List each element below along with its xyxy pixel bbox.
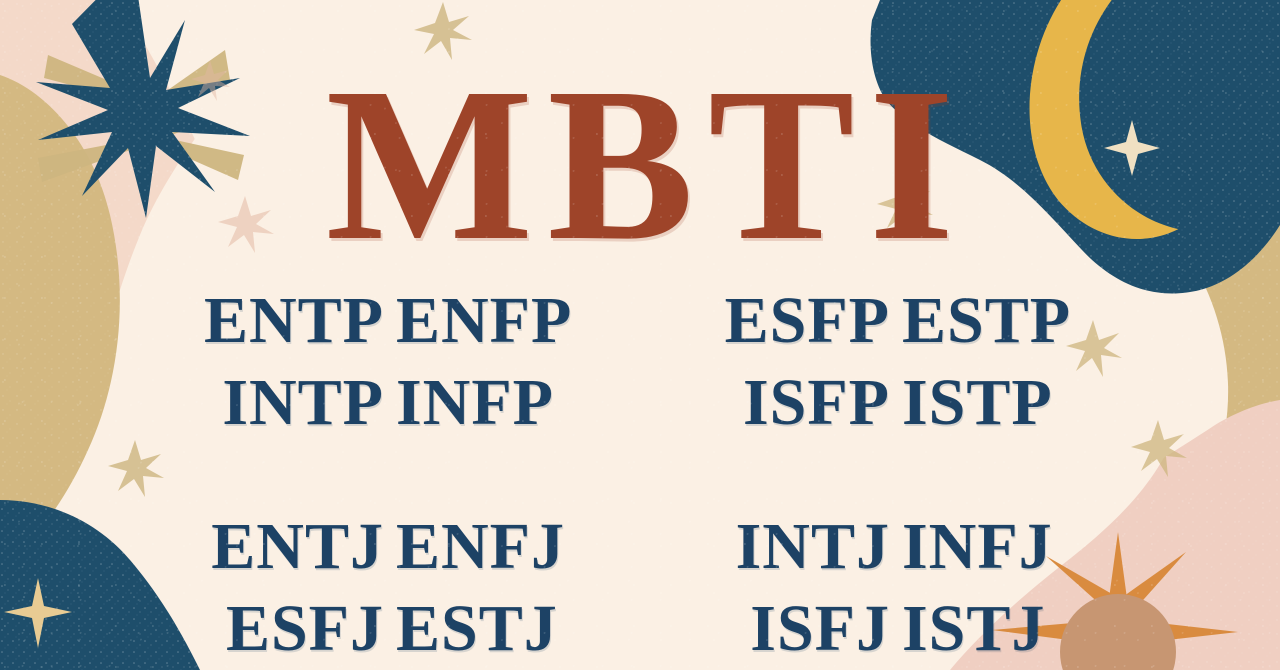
type-label: INTJ <box>662 514 896 580</box>
page-title: MBTI <box>0 54 1280 274</box>
type-label: INFP <box>390 370 618 436</box>
type-label: ESFJ <box>156 596 390 662</box>
type-label: INFJ <box>896 514 1124 580</box>
type-row: ENTJ ENFJ INTJ INFJ <box>0 514 1280 596</box>
poster-content: MBTI ENTP ENFP ESFP ESTP INTP INFP ISFP … <box>0 0 1280 670</box>
type-label: ESTP <box>896 288 1124 354</box>
type-label: ESFP <box>662 288 896 354</box>
type-row: INTP INFP ISFP ISTP <box>0 370 1280 452</box>
type-label: ENTJ <box>156 514 390 580</box>
type-label: ESTJ <box>390 596 618 662</box>
type-label: ENTP <box>156 288 390 354</box>
type-label: ENFJ <box>390 514 618 580</box>
type-label: ENFP <box>390 288 618 354</box>
type-label: ISFP <box>662 370 896 436</box>
type-label: ISFJ <box>662 596 896 662</box>
mbti-type-grid: ENTP ENFP ESFP ESTP INTP INFP ISFP ISTP <box>0 288 1280 670</box>
type-block-judging: ENTJ ENFJ INTJ INFJ ESFJ ESTJ ISFJ ISTJ <box>0 514 1280 670</box>
type-label: ISTP <box>896 370 1124 436</box>
type-label: ISTJ <box>896 596 1124 662</box>
block-divider <box>0 452 1280 514</box>
mbti-poster: MBTI ENTP ENFP ESFP ESTP INTP INFP ISFP … <box>0 0 1280 670</box>
type-label: INTP <box>156 370 390 436</box>
type-row: ENTP ENFP ESFP ESTP <box>0 288 1280 370</box>
type-row: ESFJ ESTJ ISFJ ISTJ <box>0 596 1280 670</box>
type-block-perceiving: ENTP ENFP ESFP ESTP INTP INFP ISFP ISTP <box>0 288 1280 452</box>
